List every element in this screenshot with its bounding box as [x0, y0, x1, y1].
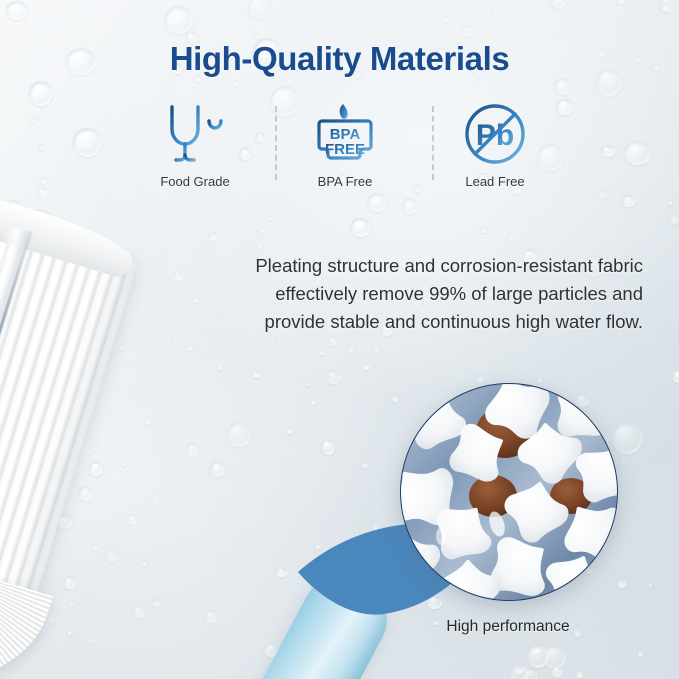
water-droplet	[209, 232, 218, 241]
badge-food-grade: Food Grade	[120, 100, 270, 189]
water-droplet	[649, 584, 653, 588]
water-droplet	[598, 190, 608, 199]
water-droplet	[149, 204, 154, 208]
water-droplet	[153, 500, 158, 506]
badge-label: BPA Free	[318, 174, 373, 189]
water-droplet	[328, 336, 337, 346]
magnified-fiber-view	[400, 383, 618, 601]
badge-label: Food Grade	[160, 174, 229, 189]
fiber-cross-section-illustration	[401, 384, 617, 600]
water-droplet	[461, 25, 473, 37]
water-droplet	[392, 396, 399, 402]
water-droplet	[321, 439, 336, 454]
product-feature-poster: High-Quality Materials	[0, 0, 679, 679]
water-droplet	[310, 399, 316, 405]
water-droplet	[277, 338, 282, 343]
water-droplet	[537, 378, 542, 383]
water-droplet	[527, 644, 550, 668]
water-droplet	[419, 222, 425, 228]
water-droplet	[232, 80, 239, 86]
no-lead-pb-icon: Pb	[463, 100, 527, 168]
water-droplet	[402, 198, 417, 214]
water-droplet	[259, 227, 265, 233]
water-droplet	[477, 375, 484, 383]
water-droplet	[6, 1, 28, 21]
water-droplet	[551, 666, 563, 677]
badge-divider	[432, 106, 434, 180]
water-droplet	[256, 241, 263, 248]
water-droplet	[638, 651, 643, 657]
water-droplet	[443, 17, 448, 22]
water-droplet	[286, 427, 292, 433]
water-droplet	[267, 215, 273, 220]
water-droplet	[601, 145, 615, 158]
water-droplet	[669, 215, 679, 224]
water-droplet	[29, 81, 53, 106]
page-title: High-Quality Materials	[0, 40, 679, 78]
water-droplet	[622, 195, 635, 207]
glass-and-fork-icon	[166, 100, 224, 168]
water-droplet	[661, 3, 670, 11]
water-droplet	[151, 512, 156, 516]
water-droplet	[587, 569, 592, 574]
water-droplet	[624, 141, 651, 165]
water-droplet	[275, 567, 287, 578]
water-droplet	[143, 10, 146, 13]
water-droplet	[164, 6, 193, 35]
water-droplet	[576, 671, 583, 678]
water-droplet	[35, 115, 39, 119]
water-droplet	[669, 202, 672, 205]
water-droplet	[672, 370, 679, 383]
water-droplet	[186, 345, 193, 351]
certification-badge-row: Food Grade BPA FREE	[120, 100, 570, 200]
water-droplet	[38, 187, 49, 198]
badge-label: Lead Free	[465, 174, 524, 189]
feature-description: Pleating structure and corrosion-resista…	[213, 252, 643, 336]
water-droplet	[348, 347, 354, 353]
water-droplet	[350, 218, 370, 237]
water-droplet	[326, 370, 341, 384]
water-droplet	[508, 235, 515, 241]
water-droplet	[612, 422, 643, 454]
water-droplet	[616, 0, 626, 4]
water-droplet	[617, 580, 626, 588]
water-droplet	[400, 19, 403, 22]
water-droplet	[622, 460, 626, 464]
water-droplet	[363, 364, 370, 371]
water-droplet	[480, 227, 487, 233]
water-droplet	[491, 9, 498, 16]
water-droplet	[218, 365, 224, 371]
water-droplet	[39, 144, 45, 150]
water-droplet	[210, 461, 225, 476]
water-droplet	[576, 394, 590, 407]
water-droplet	[252, 371, 260, 379]
water-droplet	[361, 462, 367, 468]
water-droplet	[205, 610, 218, 623]
water-droplet	[133, 605, 145, 618]
water-droplet	[522, 668, 537, 679]
water-droplet	[320, 351, 325, 356]
water-droplet	[254, 33, 261, 40]
water-droplet	[73, 128, 102, 157]
water-droplet	[554, 78, 571, 94]
water-droplet	[186, 443, 200, 458]
water-droplet	[472, 78, 475, 81]
svg-text:FREE: FREE	[325, 141, 365, 158]
badge-bpa-free: BPA FREE BPA Free	[270, 100, 420, 189]
water-droplet	[227, 422, 252, 448]
water-droplet	[142, 562, 147, 566]
badge-lead-free: Pb Lead Free	[420, 100, 570, 189]
bpa-free-badge-icon: BPA FREE	[313, 100, 377, 168]
water-droplet	[152, 599, 160, 606]
water-droplet	[306, 383, 309, 386]
water-droplet	[551, 0, 567, 8]
badge-divider	[275, 106, 277, 180]
water-droplet	[373, 347, 379, 353]
magnifier-caption: High performance	[400, 618, 616, 636]
water-droplet	[40, 177, 46, 183]
